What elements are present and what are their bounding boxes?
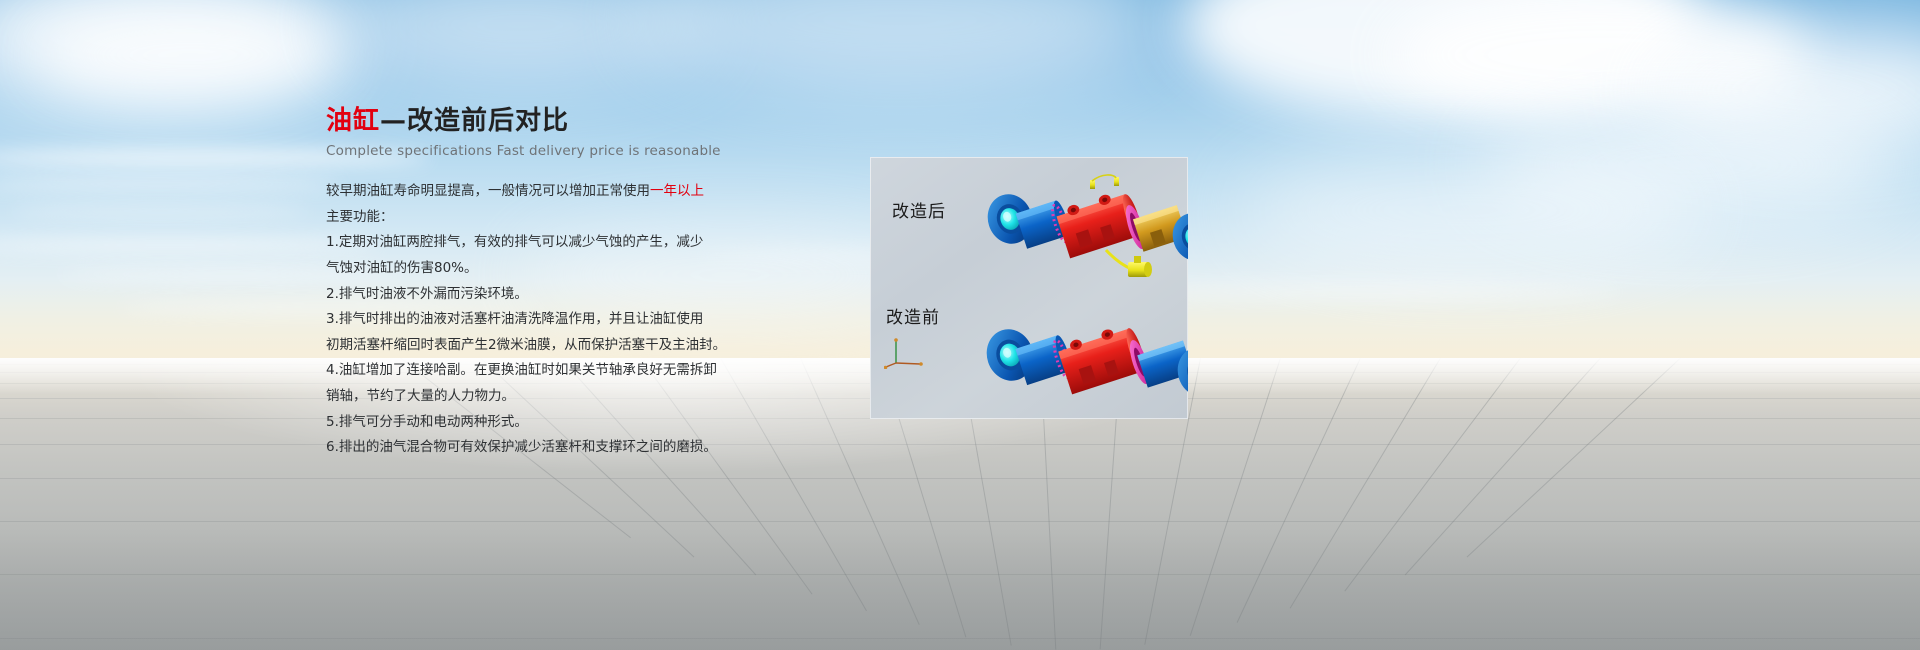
page-title: 油缸—改造前后对比 [326, 106, 746, 137]
cylinder-before-assembly [980, 321, 1188, 402]
body-line: 主要功能： [326, 205, 746, 231]
cloud-streak [10, 206, 310, 216]
page-subtitle: Complete specifications Fast delivery pr… [326, 143, 746, 159]
body-line-highlight: 一年以上 [650, 183, 704, 199]
exhaust-valve [1106, 250, 1152, 277]
body-line: 3.排气时排出的油液对活塞杆油清洗降温作用，并且让油缸使用 [326, 307, 746, 333]
body-line: 2.排气时油液不外漏而污染环境。 [326, 282, 746, 308]
body-line: 销轴，节约了大量的人力物力。 [326, 384, 746, 410]
cloud [40, 10, 340, 100]
text-content: 油缸—改造前后对比 Complete specifications Fast d… [326, 106, 746, 461]
feature-list: 较早期油缸寿命明显提高，一般情况可以增加正常使用一年以上 主要功能： 1.定期对… [326, 179, 746, 461]
banner-stage: 油缸—改造前后对比 Complete specifications Fast d… [0, 0, 1920, 650]
cloud-streak [0, 178, 340, 190]
cloud-streak [0, 238, 380, 252]
body-line: 5.排气可分手动和电动两种形式。 [326, 410, 746, 436]
body-line-text: 较早期油缸寿命明显提高，一般情况可以增加正常使用 [326, 183, 650, 199]
comparison-image-panel: 改造后 改造前 [870, 157, 1188, 419]
page-title-rest: —改造前后对比 [380, 106, 569, 136]
page-title-accent: 油缸 [326, 106, 380, 136]
body-line: 6.排出的油气混合物可有效保护减少活塞杆和支撑环之间的磨损。 [326, 435, 746, 461]
label-before-modification: 改造前 [886, 303, 940, 328]
body-line: 初期活塞杆缩回时表面产生2微米油膜，从而保护活塞干及主油封。 [326, 333, 746, 359]
body-line: 较早期油缸寿命明显提高，一般情况可以增加正常使用一年以上 [326, 179, 746, 205]
cloud [640, 0, 1160, 90]
cloud [1240, 150, 1700, 270]
cylinder-after-assembly [981, 175, 1188, 277]
top-fitting [1090, 175, 1119, 189]
label-after-modification: 改造后 [892, 197, 946, 222]
body-line: 1.定期对油缸两腔排气，有效的排气可以减少气蚀的产生，减少 [326, 230, 746, 256]
floor-shadow [0, 530, 1920, 650]
body-line: 气蚀对油缸的伤害80%。 [326, 256, 746, 282]
xyz-axis-icon [884, 333, 926, 369]
body-line: 4.油缸增加了连接哈副。在更换油缸时如果关节轴承良好无需拆卸 [326, 358, 746, 384]
